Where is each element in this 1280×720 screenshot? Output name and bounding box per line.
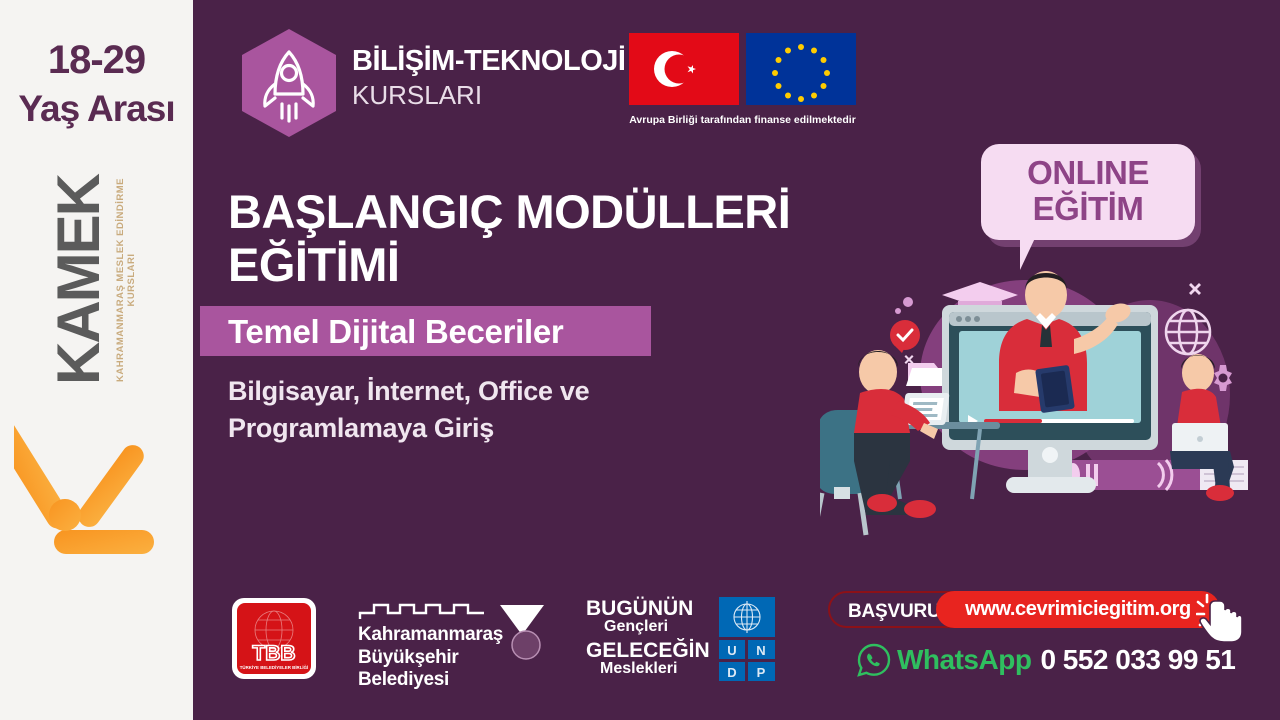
online-badge-line1: ONLINE [981,156,1195,189]
municipality-line2: Büyükşehir Belediyesi [358,647,548,691]
whatsapp-label: WhatsApp [897,644,1031,676]
rocket-hexagon-icon [235,26,343,140]
sidebar: 18-29 Yaş Arası KAMEK KAHRAMANMARAŞ MESL… [0,0,193,720]
website-url: www.cevrimiciegitim.org [936,598,1220,621]
slogan-line2: Gençleri [604,618,668,636]
apply-label: BAŞVURU [848,601,941,623]
svg-text:D: D [727,665,736,680]
whatsapp-number: 0 552 033 99 51 [1040,644,1235,676]
svg-text:P: P [757,665,766,680]
click-cursor-icon [1196,592,1248,642]
age-range-line2: Yaş Arası [0,88,193,130]
funding-note: Avrupa Birliği tarafından finanse edilme… [629,113,856,127]
turkey-flag-icon [629,33,739,105]
eu-flag-icon [746,33,856,105]
subtitle-text: Temel Dijital Beceriler [228,313,563,351]
poster-root: 18-29 Yaş Arası KAMEK KAHRAMANMARAŞ MESL… [0,0,1280,720]
tbb-initials: TBB [252,642,295,665]
tbb-fullname: TÜRKİYE BELEDİYELER BİRLİĞİ [240,665,309,670]
whatsapp-contact[interactable]: WhatsApp 0 552 033 99 51 [857,641,1235,679]
tbb-logo: TBB TÜRKİYE BELEDİYELER BİRLİĞİ [230,596,318,681]
municipality-logo: Kahramanmaraş Büyükşehir Belediyesi [358,597,548,679]
subtitle-highlight-bar: Temel Dijital Beceriler [200,306,651,356]
undp-logo: UN DP [719,597,775,681]
municipality-line1: Kahramanmaraş [358,624,503,646]
slogan-line4: Meslekleri [600,660,677,678]
description-text: Bilgisayar, İnternet, Office ve Programl… [228,373,748,448]
brand-title: BİLİŞİM-TEKNOLOJİ [352,47,625,76]
kamek-wordmark: KAMEK [49,150,109,410]
brand-subtitle: KURSLARI [352,82,625,108]
youth-slogan-logo: BUGÜNÜN Gençleri GELECEĞİN Meslekleri [586,597,706,681]
website-pill[interactable]: www.cevrimiciegitim.org [936,591,1220,628]
kamek-subtitle: KAHRAMANMARAŞ MESLEK EDİNDİRME KURSLARI [115,150,137,410]
kamek-logo: KAMEK KAHRAMANMARAŞ MESLEK EDİNDİRME KUR… [0,225,228,335]
online-badge: ONLINE EĞİTİM [981,144,1195,240]
kamek-figure-icon [14,418,182,563]
brand-text: BİLİŞİM-TEKNOLOJİ KURSLARI [352,47,625,108]
flags-block: Avrupa Birliği tarafından finanse edilme… [629,33,856,127]
online-learning-illustration [820,255,1280,575]
svg-text:N: N [756,643,765,658]
svg-text:U: U [727,643,736,658]
online-badge-line2: EĞİTİM [981,192,1195,225]
whatsapp-icon [857,643,891,677]
age-range-line1: 18-29 [0,38,193,83]
apply-cta[interactable]: BAŞVURU www.cevrimiciegitim.org [828,591,1216,628]
